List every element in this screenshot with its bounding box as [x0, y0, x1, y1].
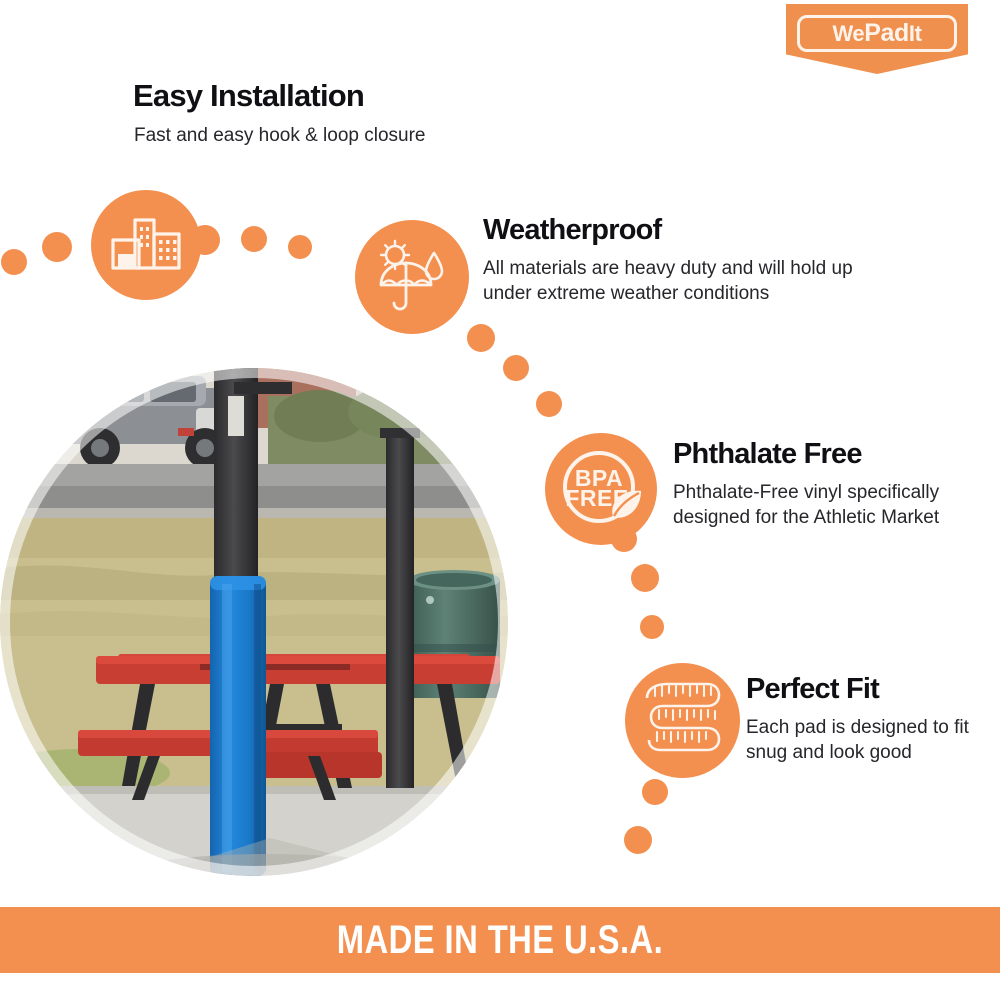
logo-text: WePadIt [832, 21, 921, 46]
trail-dot [503, 355, 529, 381]
made-in-usa-text: MADE IN THE U.S.A. [337, 918, 663, 963]
feature-description-weatherproof: All materials are heavy duty and will ho… [483, 257, 903, 306]
trail-dot [241, 226, 267, 252]
product-photo [0, 368, 508, 876]
umbrella-sun-rain-icon [355, 220, 469, 334]
feature-title-perfect-fit: Perfect Fit [746, 673, 879, 706]
measuring-tape-icon [625, 663, 740, 778]
logo-frame: WePadIt [797, 15, 957, 52]
trail-dot [1, 249, 27, 275]
feature-title-easy-installation: Easy Installation [133, 78, 364, 114]
logo-text-pad: Pad [864, 19, 909, 47]
building-icon [91, 190, 201, 300]
feature-description-perfect-fit: Each pad is designed to fit snug and loo… [746, 716, 976, 765]
logo-text-it: It [909, 21, 922, 46]
feature-title-weatherproof: Weatherproof [483, 214, 661, 247]
feature-title-phthalate-free: Phthalate Free [673, 438, 862, 471]
trail-dot [640, 615, 664, 639]
trail-dot [611, 526, 637, 552]
logo-text-we: We [832, 21, 864, 46]
brand-logo[interactable]: WePadIt [786, 4, 968, 74]
trail-dot [467, 324, 495, 352]
trail-dot [42, 232, 72, 262]
trail-dot [190, 225, 220, 255]
trail-dot [536, 391, 562, 417]
trail-dot [288, 235, 312, 259]
feature-description-phthalate-free: Phthalate-Free vinyl specifically design… [673, 481, 943, 530]
trail-dot [631, 564, 659, 592]
made-in-usa-banner: MADE IN THE U.S.A. [0, 907, 1000, 973]
trail-dot [624, 826, 652, 854]
bpa-free-leaf-icon: BPA FREE [545, 433, 657, 545]
trail-dot [642, 779, 668, 805]
infographic-page: WePadIt Easy Installation Fast and easy … [0, 0, 1000, 987]
feature-description-easy-installation: Fast and easy hook & loop closure [134, 124, 426, 149]
